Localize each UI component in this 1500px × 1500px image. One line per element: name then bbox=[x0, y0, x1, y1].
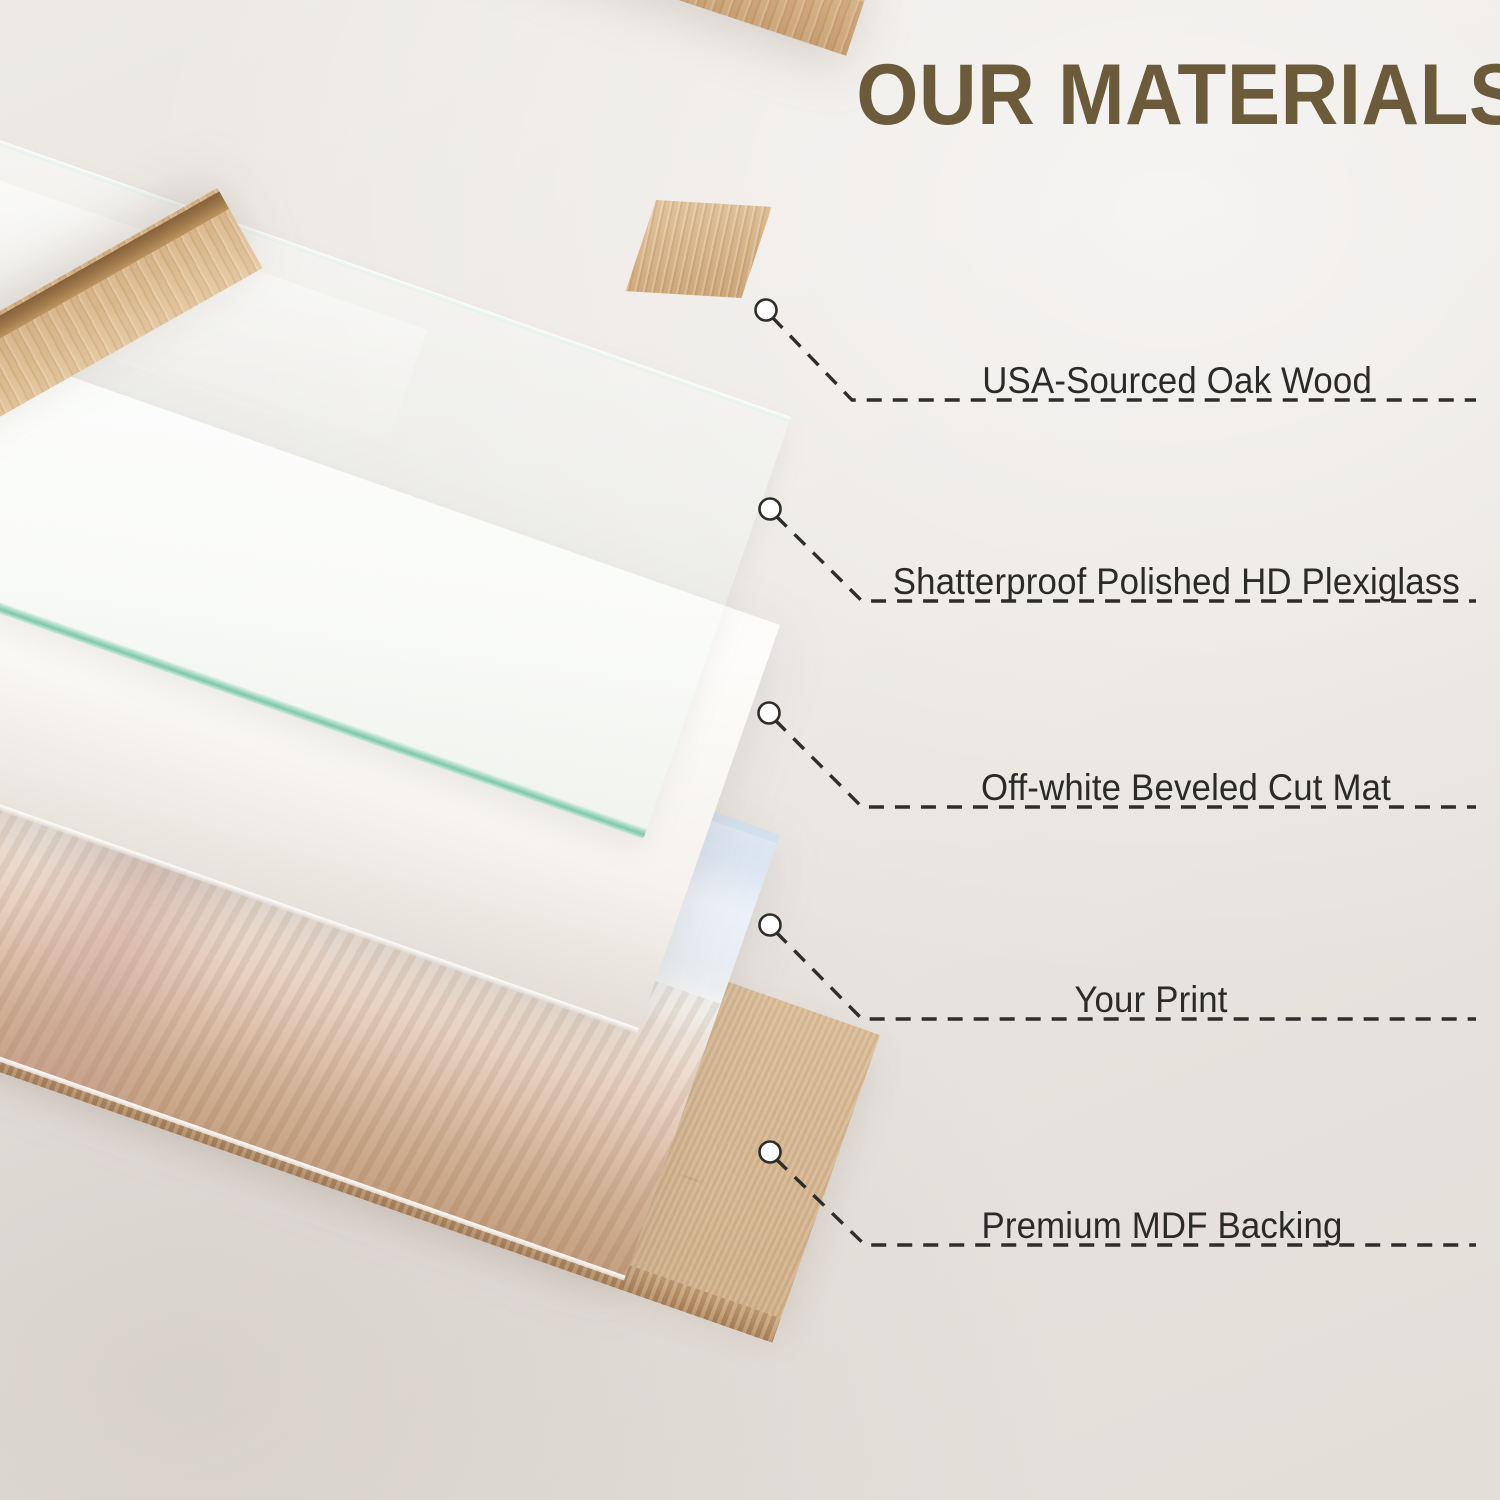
hollow-dot-marker bbox=[760, 499, 781, 520]
materials-infographic: OUR MATERIALS USA-Sourced Oak Wood Shatt… bbox=[0, 0, 1500, 1500]
callout-label-plexiglass: Shatterproof Polished HD Plexiglass bbox=[88, 561, 1460, 603]
filled-dot-marker bbox=[760, 1142, 781, 1163]
filled-dot-marker bbox=[756, 300, 777, 321]
callout-label-print: Your Print bbox=[775, 979, 1500, 1021]
callout-label-oak-wood: USA-Sourced Oak Wood bbox=[82, 360, 1372, 402]
callout-lines-svg bbox=[0, 0, 1500, 1500]
hollow-dot-marker bbox=[760, 915, 781, 936]
callout-label-mdf-backing: Premium MDF Backing bbox=[786, 1205, 1500, 1247]
hollow-dot-marker bbox=[759, 703, 780, 724]
callout-label-mat: Off-white Beveled Cut Mat bbox=[83, 767, 1391, 809]
callout-group: USA-Sourced Oak Wood Shatterproof Polish… bbox=[0, 0, 1500, 1500]
